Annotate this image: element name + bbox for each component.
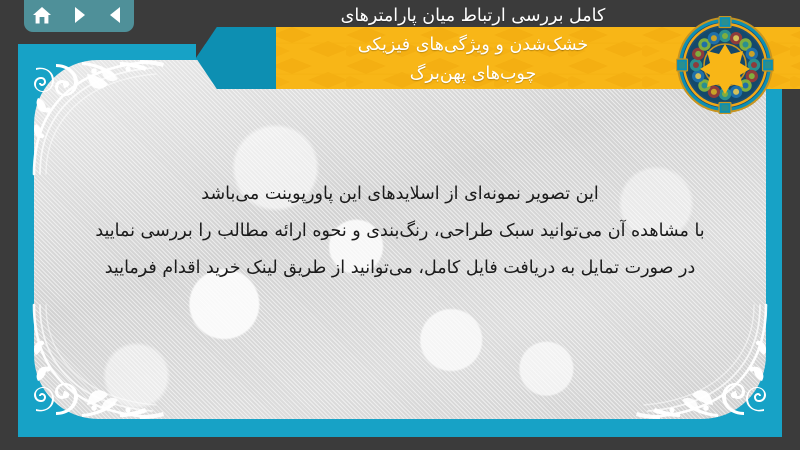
slide-canvas: این تصویر نمونه‌ای از اسلایدهای این پاور… xyxy=(0,0,800,450)
next-slide-button[interactable] xyxy=(66,3,92,27)
prev-slide-button[interactable] xyxy=(103,3,129,27)
page-title: کامل بررسی ارتباط میان پارامترهای خشک‌شد… xyxy=(238,2,708,89)
body-line: این تصویر نمونه‌ای از اسلایدهای این پاور… xyxy=(70,176,730,213)
slide-navigation-bar xyxy=(24,0,134,32)
body-line: با مشاهده آن می‌توانید سبک طراحی، رنگ‌بن… xyxy=(70,213,730,250)
triangle-left-icon xyxy=(107,6,125,24)
home-button[interactable] xyxy=(29,3,55,27)
triangle-right-icon xyxy=(70,6,88,24)
body-line: در صورت تمایل به دریافت فایل کامل، می‌تو… xyxy=(70,250,730,287)
home-icon xyxy=(32,6,52,25)
persian-mandala-ornament xyxy=(676,16,774,114)
slide-body-text: این تصویر نمونه‌ای از اسلایدهای این پاور… xyxy=(70,176,730,287)
content-panel: این تصویر نمونه‌ای از اسلایدهای این پاور… xyxy=(18,44,782,437)
